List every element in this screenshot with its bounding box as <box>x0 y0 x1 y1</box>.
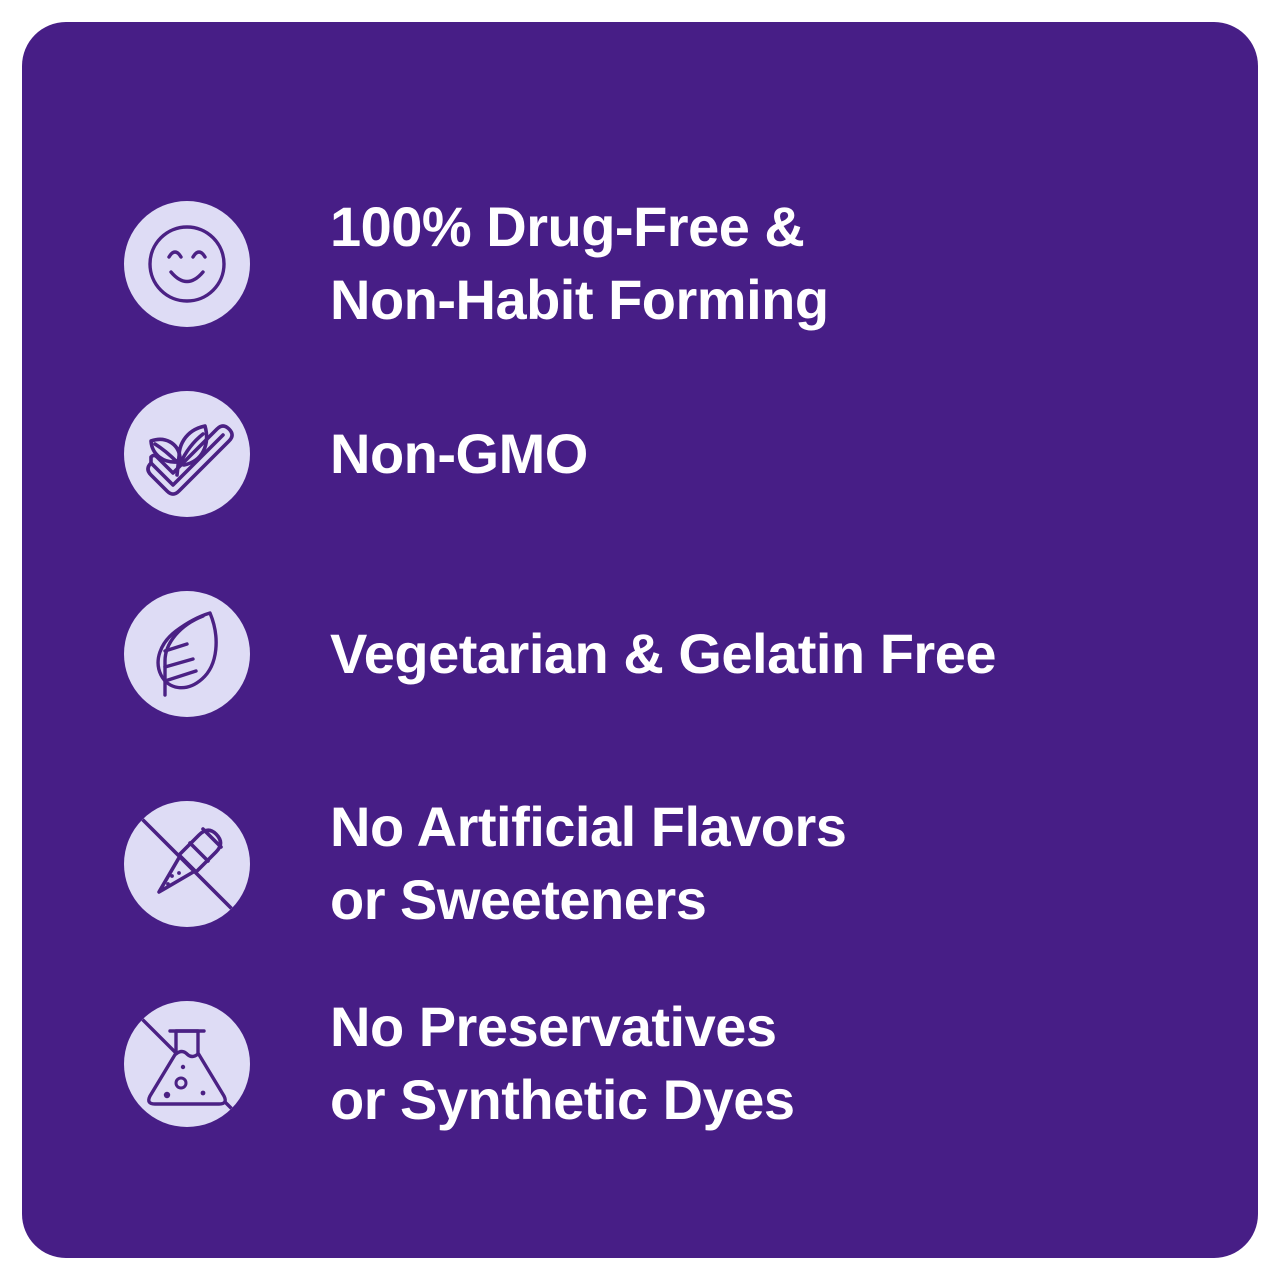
no-dropper-icon <box>124 801 250 927</box>
feature-label: Non-GMO <box>330 418 588 491</box>
leaf-icon <box>124 591 250 717</box>
feature-row: Non-GMO <box>124 391 588 517</box>
feature-label: Vegetarian & Gelatin Free <box>330 618 996 691</box>
no-flask-icon <box>124 1001 250 1127</box>
feature-row: 100% Drug-Free & Non-Habit Forming <box>124 191 829 337</box>
feature-row: No Preservatives or Synthetic Dyes <box>124 991 795 1137</box>
feature-row: Vegetarian & Gelatin Free <box>124 591 996 717</box>
smiley-face-icon <box>124 201 250 327</box>
feature-label: No Artificial Flavors or Sweeteners <box>330 791 846 937</box>
feature-label: No Preservatives or Synthetic Dyes <box>330 991 795 1137</box>
feature-panel: 100% Drug-Free & Non-Habit Forming <box>22 22 1258 1258</box>
plant-checkmark-icon <box>124 391 250 517</box>
feature-row: No Artificial Flavors or Sweeteners <box>124 791 846 937</box>
feature-label: 100% Drug-Free & Non-Habit Forming <box>330 191 829 337</box>
feature-list: 100% Drug-Free & Non-Habit Forming <box>22 22 1258 1258</box>
